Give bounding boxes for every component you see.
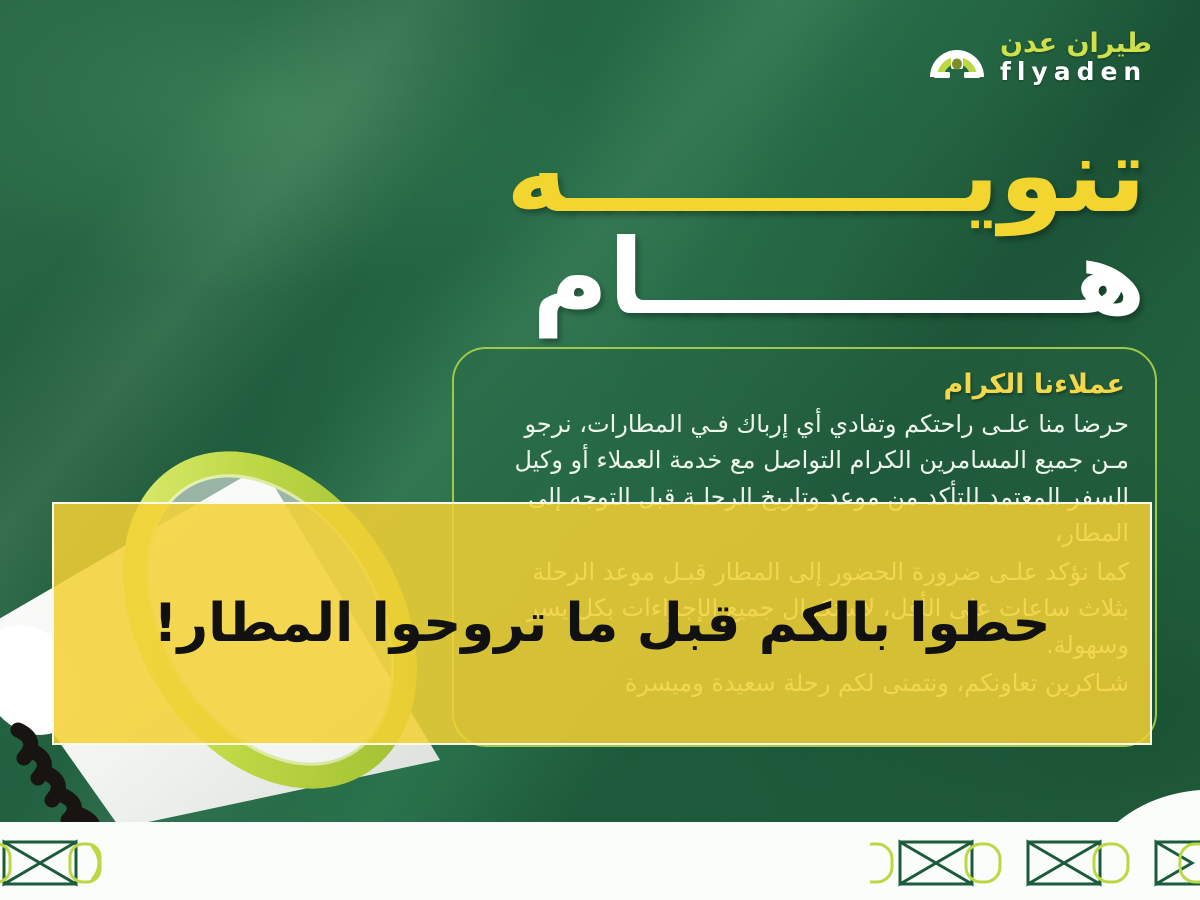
arabesque-motif-icon: [0, 836, 330, 890]
flyaden-logo[interactable]: طيران عدن flyaden: [926, 30, 1152, 84]
headline-block: تنويـــــــــــه هــــــــــــام: [426, 128, 1146, 325]
arch-emblem-icon: [926, 33, 988, 81]
poster-canvas: طيران عدن flyaden تنويـــــــــــه هــــ…: [0, 0, 1200, 900]
logo-wordmark: طيران عدن flyaden: [1000, 30, 1152, 84]
overlay-banner: حطوا بالكم قبل ما تروحوا المطار!: [52, 502, 1152, 745]
notice-card-title: عملاءنا الكرام: [480, 369, 1125, 400]
headline-line-1: تنويـــــــــــه: [426, 128, 1146, 224]
headline-line-2: هــــــــــــام: [426, 230, 1146, 326]
logo-arabic-text: طيران عدن: [1000, 30, 1152, 57]
overlay-banner-text: حطوا بالكم قبل ما تروحوا المطار!: [98, 591, 1106, 657]
logo-latin-text: flyaden: [1000, 59, 1147, 84]
arabesque-motif-icon: [870, 836, 1200, 890]
